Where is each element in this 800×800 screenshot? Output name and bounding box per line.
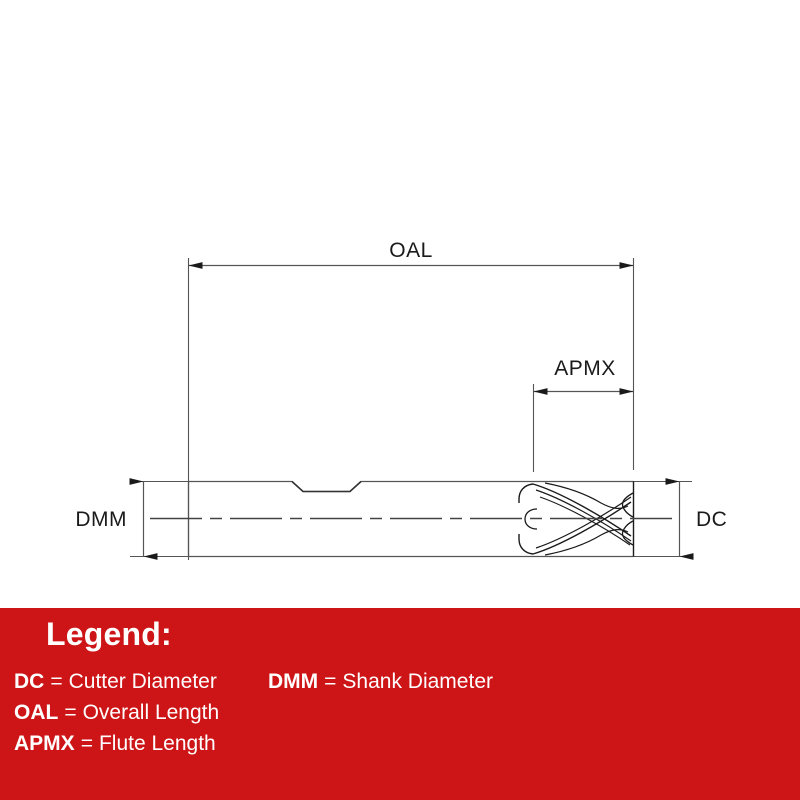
flute-start-radius-top bbox=[519, 484, 533, 503]
weldon-flat-notch bbox=[292, 482, 361, 492]
dc-label: DC bbox=[696, 508, 727, 531]
legend-title: Legend: bbox=[46, 616, 172, 653]
legend-description: Shank Diameter bbox=[342, 670, 493, 694]
legend-row: APMX = Flute Length bbox=[0, 732, 800, 763]
dimension-oal: OAL bbox=[189, 239, 634, 266]
legend-panel: Legend: DC = Cutter Diameter DMM = Shank… bbox=[0, 608, 800, 800]
legend-abbr: DMM bbox=[268, 670, 318, 694]
shank-top-outline bbox=[189, 482, 634, 492]
legend-entry-dmm: DMM = Shank Diameter bbox=[268, 670, 493, 694]
flute-helix-2b bbox=[536, 497, 631, 548]
legend-row: DC = Cutter Diameter DMM = Shank Diamete… bbox=[0, 670, 800, 701]
legend-abbr: DC bbox=[14, 670, 44, 694]
legend-abbr: OAL bbox=[14, 701, 58, 725]
flute-helix-1b bbox=[536, 490, 631, 541]
dimension-dmm: DMM bbox=[75, 482, 143, 557]
legend-equals: = bbox=[44, 670, 68, 694]
legend-equals: = bbox=[318, 670, 342, 694]
extension-lines bbox=[130, 258, 692, 560]
legend-equals: = bbox=[58, 701, 82, 725]
flute-helix-1c bbox=[540, 497, 630, 545]
technical-drawing-area: OAL APMX DMM DC bbox=[0, 0, 800, 608]
dimension-dc: DC bbox=[680, 482, 728, 557]
legend-equals: = bbox=[75, 732, 99, 756]
legend-entry-apmx: APMX = Flute Length bbox=[14, 732, 216, 756]
legend-entry-dc: DC = Cutter Diameter bbox=[0, 670, 268, 694]
end-mill-drawing: OAL APMX DMM DC bbox=[0, 0, 800, 608]
oal-label: OAL bbox=[389, 239, 433, 262]
legend-description: Overall Length bbox=[83, 701, 220, 725]
flute-helix-4 bbox=[545, 530, 628, 555]
dimension-apmx: APMX bbox=[534, 357, 634, 392]
flute-helix-3 bbox=[545, 483, 628, 508]
legend-row: OAL = Overall Length bbox=[0, 701, 800, 732]
flute-start-radius-bottom bbox=[519, 534, 533, 554]
legend-entry-oal: OAL = Overall Length bbox=[14, 701, 219, 725]
legend-rows: DC = Cutter Diameter DMM = Shank Diamete… bbox=[0, 670, 800, 763]
apmx-label: APMX bbox=[554, 357, 616, 380]
legend-description: Cutter Diameter bbox=[69, 670, 217, 694]
flute-helix-1a bbox=[533, 484, 631, 536]
flute-helix-2a bbox=[533, 502, 631, 554]
legend-abbr: APMX bbox=[14, 732, 75, 756]
dmm-label: DMM bbox=[75, 508, 127, 531]
legend-description: Flute Length bbox=[99, 732, 216, 756]
